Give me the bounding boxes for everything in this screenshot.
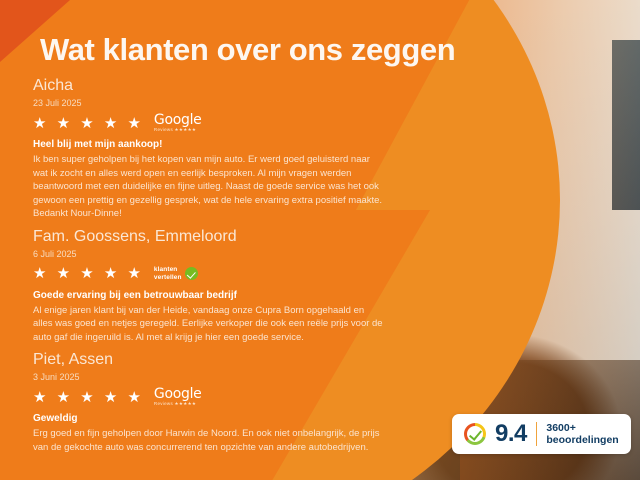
page-title: Wat klanten over ons zeggen: [40, 32, 455, 68]
review-item: Fam. Goossens, Emmeloord 6 Juli 2025 ★ ★…: [33, 227, 433, 345]
overall-score-badge: 9.4 3600+ beoordelingen: [452, 414, 631, 454]
review-count: 3600+: [546, 422, 618, 434]
score-value: 9.4: [495, 422, 527, 446]
review-item: Piet, Assen 3 Juni 2025 ★ ★ ★ ★ ★ Google…: [33, 350, 433, 454]
klantenvertellen-line1: klanten: [154, 266, 182, 274]
review-title: Goede ervaring bij een betrouwbaar bedri…: [33, 289, 433, 303]
google-wordmark: Google: [154, 113, 202, 127]
klantenvertellen-logo: klanten vertellen: [154, 266, 198, 281]
reviewer-name: Aicha: [33, 76, 433, 95]
google-reviews-logo: Google Reviews ★★★★★: [154, 387, 202, 408]
google-reviews-subtext: Reviews ★★★★★: [154, 128, 202, 133]
star-rating: ★ ★ ★ ★ ★: [33, 389, 144, 406]
star-rating: ★ ★ ★ ★ ★: [33, 115, 144, 132]
review-count-label: beoordelingen: [546, 434, 618, 446]
check-circle-icon: [185, 267, 198, 280]
review-banner: Wat klanten over ons zeggen Aicha 23 Jul…: [0, 0, 640, 480]
review-body: Erg goed en fijn geholpen door Harwin de…: [33, 427, 383, 454]
rating-row: ★ ★ ★ ★ ★ Google Reviews ★★★★★: [33, 387, 433, 407]
reviewer-name: Piet, Assen: [33, 350, 433, 369]
rating-row: ★ ★ ★ ★ ★ klanten vertellen: [33, 264, 433, 284]
google-wordmark: Google: [154, 387, 202, 401]
rating-row: ★ ★ ★ ★ ★ Google Reviews ★★★★★: [33, 113, 433, 133]
google-reviews-logo: Google Reviews ★★★★★: [154, 113, 202, 134]
klantenvertellen-line2: vertellen: [154, 274, 182, 282]
google-reviews-subtext: Reviews ★★★★★: [154, 402, 202, 407]
kiyoh-check-icon: [464, 423, 486, 445]
score-divider: [536, 422, 538, 446]
review-item: Aicha 23 Juli 2025 ★ ★ ★ ★ ★ Google Revi…: [33, 76, 433, 221]
review-title: Heel blij met mijn aankoop!: [33, 138, 433, 152]
reviews-list: Aicha 23 Juli 2025 ★ ★ ★ ★ ★ Google Revi…: [33, 76, 433, 460]
reviewer-name: Fam. Goossens, Emmeloord: [33, 227, 433, 246]
review-date: 6 Juli 2025: [33, 247, 433, 261]
review-body: Ik ben super geholpen bij het kopen van …: [33, 153, 383, 221]
star-rating: ★ ★ ★ ★ ★: [33, 265, 144, 282]
klantenvertellen-wordmark: klanten vertellen: [154, 266, 182, 281]
score-meta: 3600+ beoordelingen: [546, 422, 618, 446]
review-body: Al enige jaren klant bij van der Heide, …: [33, 304, 383, 345]
review-date: 3 Juni 2025: [33, 370, 433, 384]
review-title: Geweldig: [33, 412, 433, 426]
review-date: 23 Juli 2025: [33, 96, 433, 110]
